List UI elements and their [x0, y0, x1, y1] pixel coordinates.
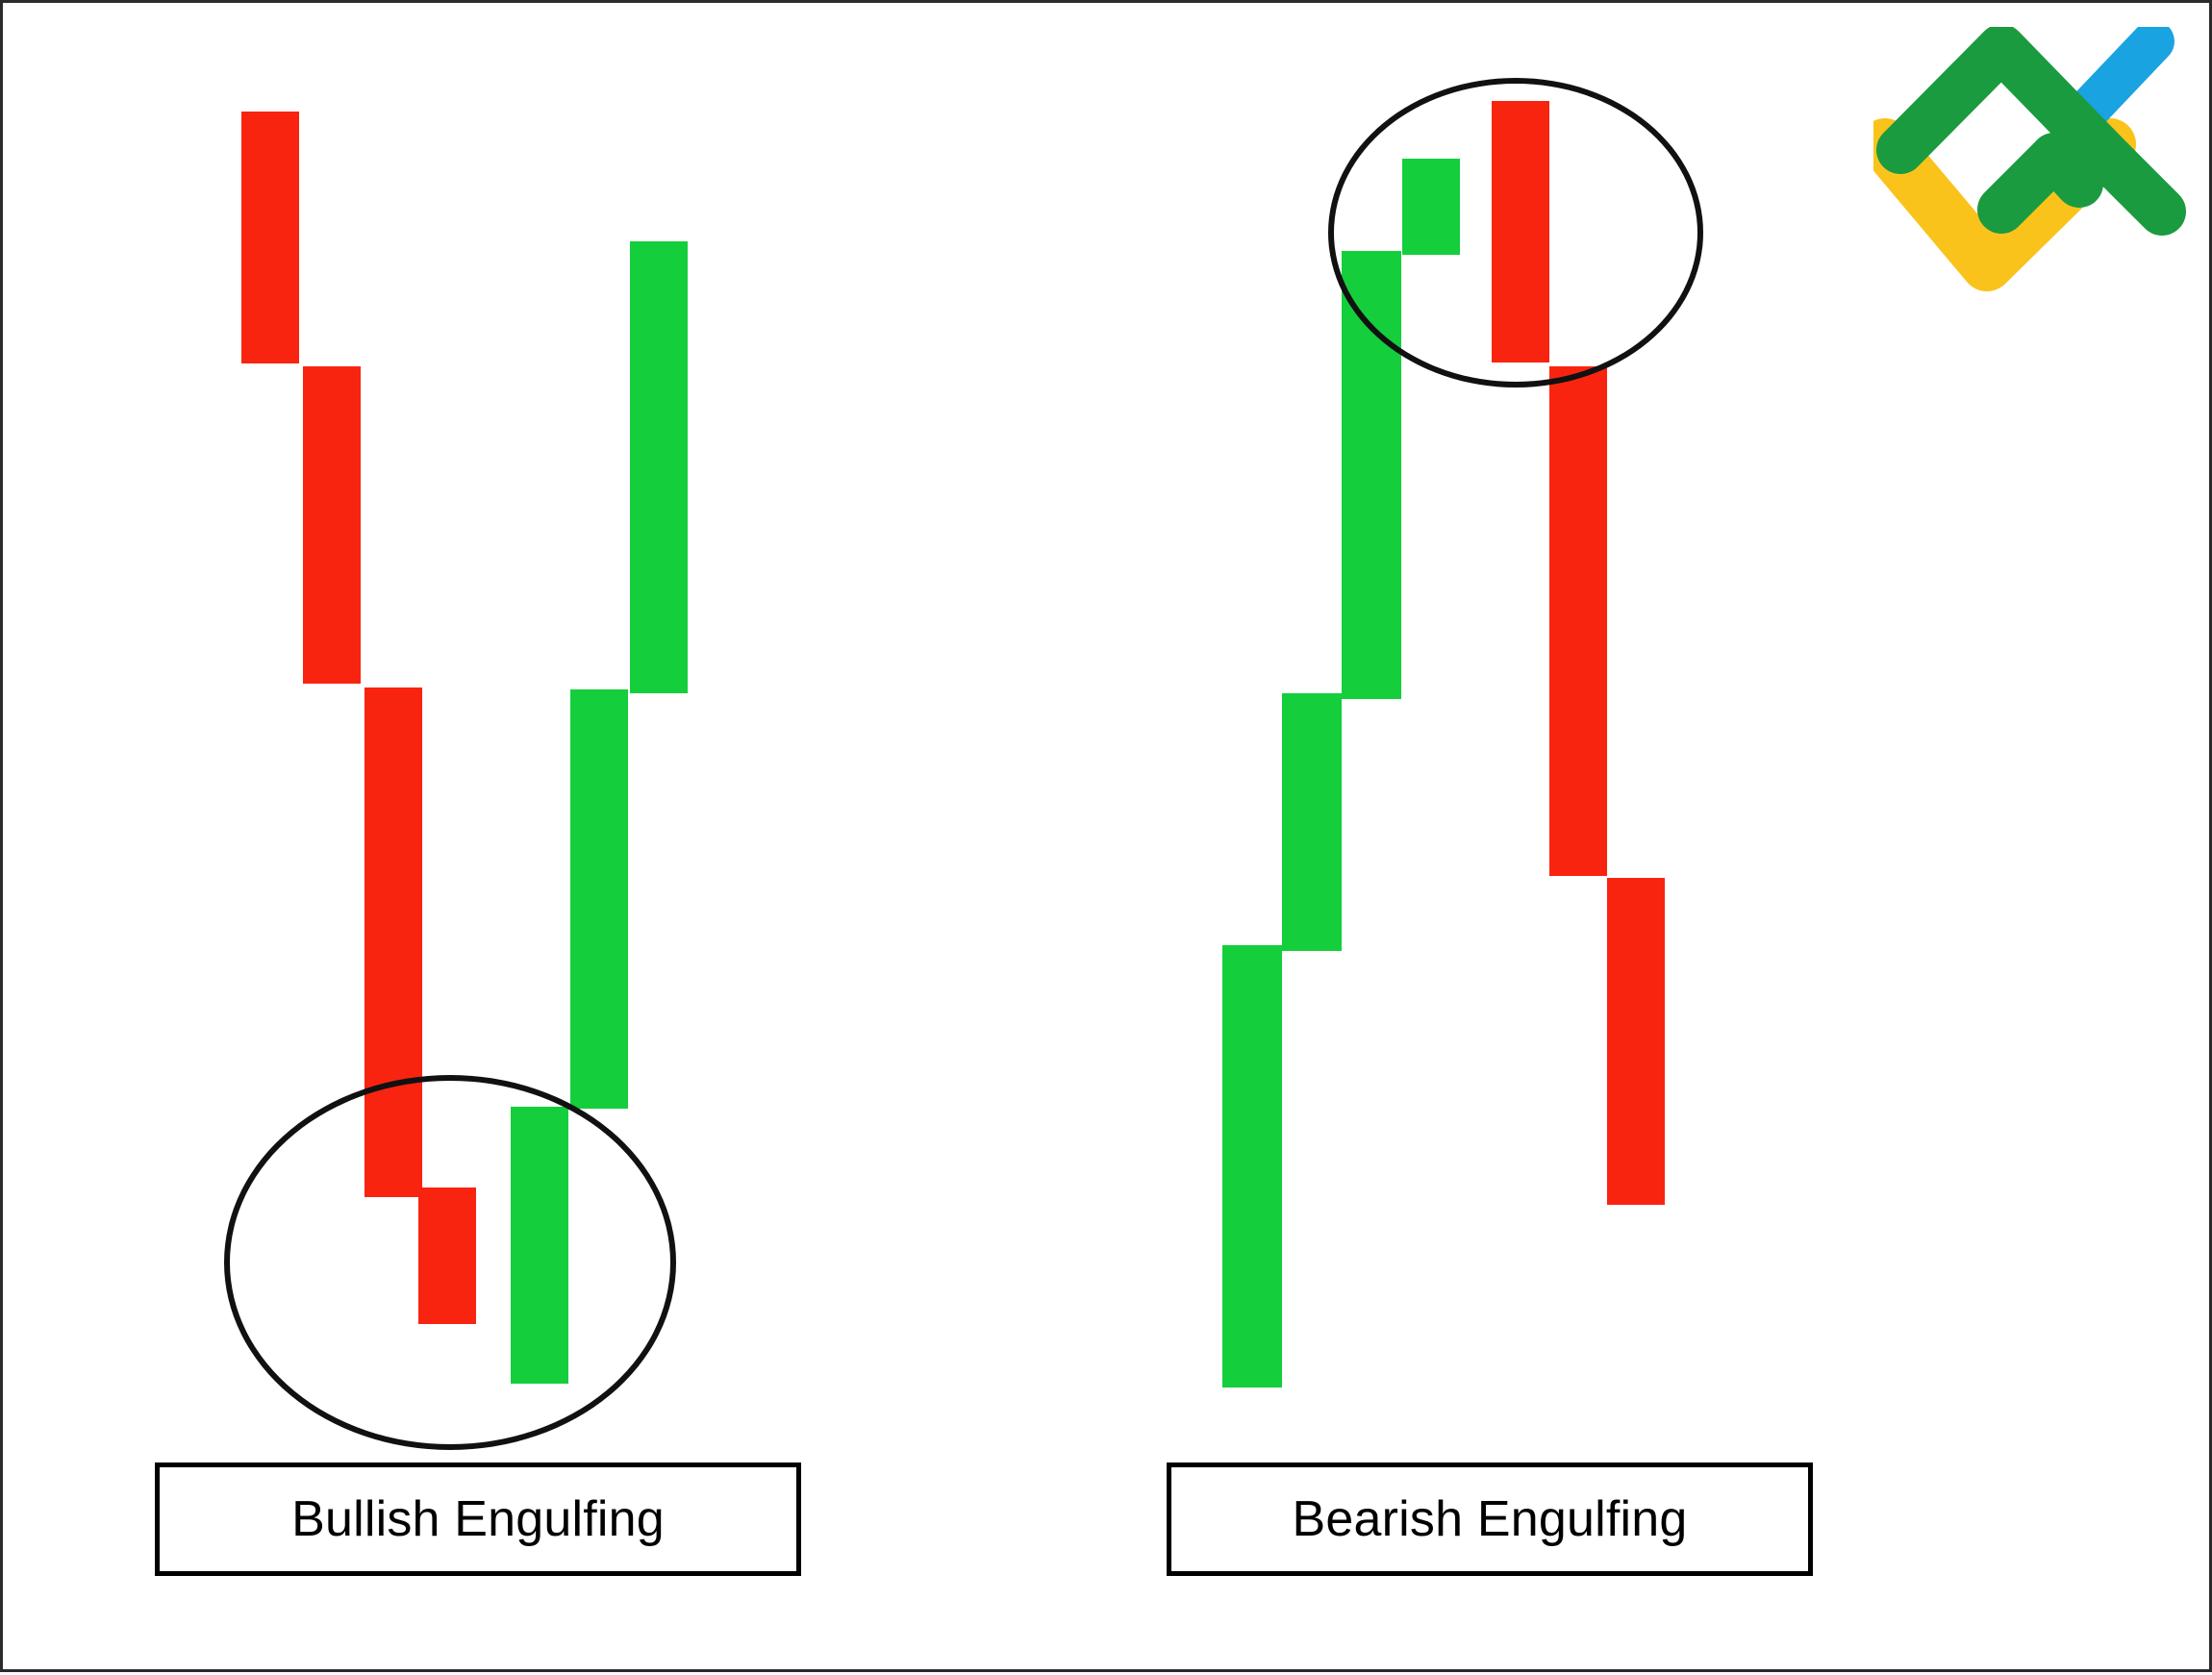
brand-logo	[1873, 27, 2191, 373]
caption-box-bullish: Bullish Engulfing	[155, 1462, 801, 1576]
caption-label-bullish: Bullish Engulfing	[291, 1490, 665, 1548]
candle-bullish-r2	[1282, 693, 1342, 951]
candle-bullish-2	[570, 689, 628, 1109]
candle-bullish-r1	[1222, 945, 1282, 1387]
caption-label-bearish: Bearish Engulfing	[1293, 1490, 1688, 1548]
candle-bearish-r3	[1607, 878, 1665, 1205]
candle-bearish-1	[241, 112, 299, 363]
caption-box-bearish: Bearish Engulfing	[1167, 1462, 1813, 1576]
candle-bullish-3	[630, 241, 688, 693]
candle-bearish-2	[303, 366, 361, 684]
pattern-diagram: Bullish Engulfing Bearish Engulfing	[3, 3, 2212, 1675]
candle-bearish-r2	[1549, 366, 1607, 876]
highlight-circle-bearish	[1328, 78, 1703, 387]
page-frame: Bullish Engulfing Bearish Engulfing	[0, 0, 2212, 1672]
highlight-circle-bullish	[224, 1075, 676, 1450]
